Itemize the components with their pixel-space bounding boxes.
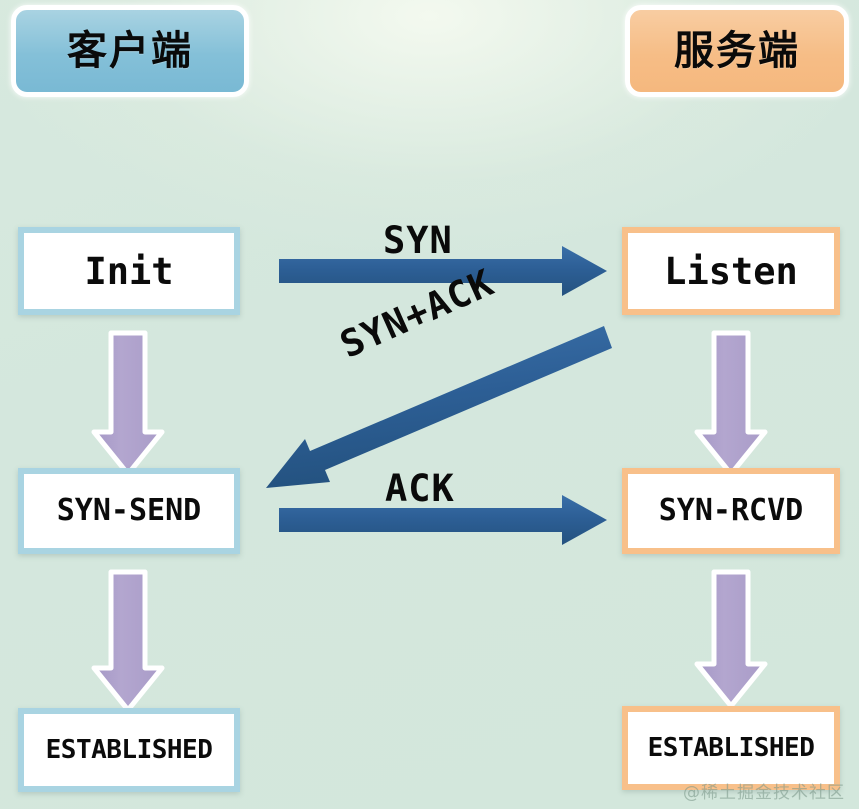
state-box-label: ESTABLISHED bbox=[648, 735, 815, 761]
transition-arrow-server-listen-to-synrcvd bbox=[697, 333, 765, 474]
column-header-client: 客户端 bbox=[11, 5, 249, 97]
state-box-label: Init bbox=[84, 253, 173, 290]
state-box-client-established: ESTABLISHED bbox=[18, 708, 240, 792]
diagram-canvas: 客户端 服务端 Init SYN-SEND ESTABLISHED Listen… bbox=[0, 0, 859, 809]
state-box-label: SYN-SEND bbox=[57, 496, 202, 526]
transition-arrow-client-synsend-to-established bbox=[94, 572, 162, 710]
state-box-client-init: Init bbox=[18, 227, 240, 315]
transition-arrow-server-synrcvd-to-established bbox=[697, 572, 765, 706]
message-label-syn: SYN bbox=[383, 222, 453, 259]
state-box-label: Listen bbox=[664, 253, 798, 290]
message-label-syn-ack: SYN+ACK bbox=[335, 264, 499, 364]
message-label-ack: ACK bbox=[385, 470, 455, 507]
column-header-server: 服务端 bbox=[625, 5, 849, 97]
column-header-client-label: 客户端 bbox=[67, 31, 193, 71]
state-box-client-syn-send: SYN-SEND bbox=[18, 468, 240, 554]
message-arrow-syn-ack bbox=[266, 326, 612, 488]
arrow-layer bbox=[0, 0, 859, 809]
state-box-server-syn-rcvd: SYN-RCVD bbox=[622, 468, 840, 554]
watermark: @稀土掘金技术社区 bbox=[683, 778, 845, 803]
state-box-label: ESTABLISHED bbox=[46, 737, 213, 763]
state-box-label: SYN-RCVD bbox=[659, 496, 804, 526]
state-box-server-listen: Listen bbox=[622, 227, 840, 315]
column-header-server-label: 服务端 bbox=[674, 31, 800, 71]
transition-arrow-client-init-to-synsend bbox=[94, 333, 162, 474]
